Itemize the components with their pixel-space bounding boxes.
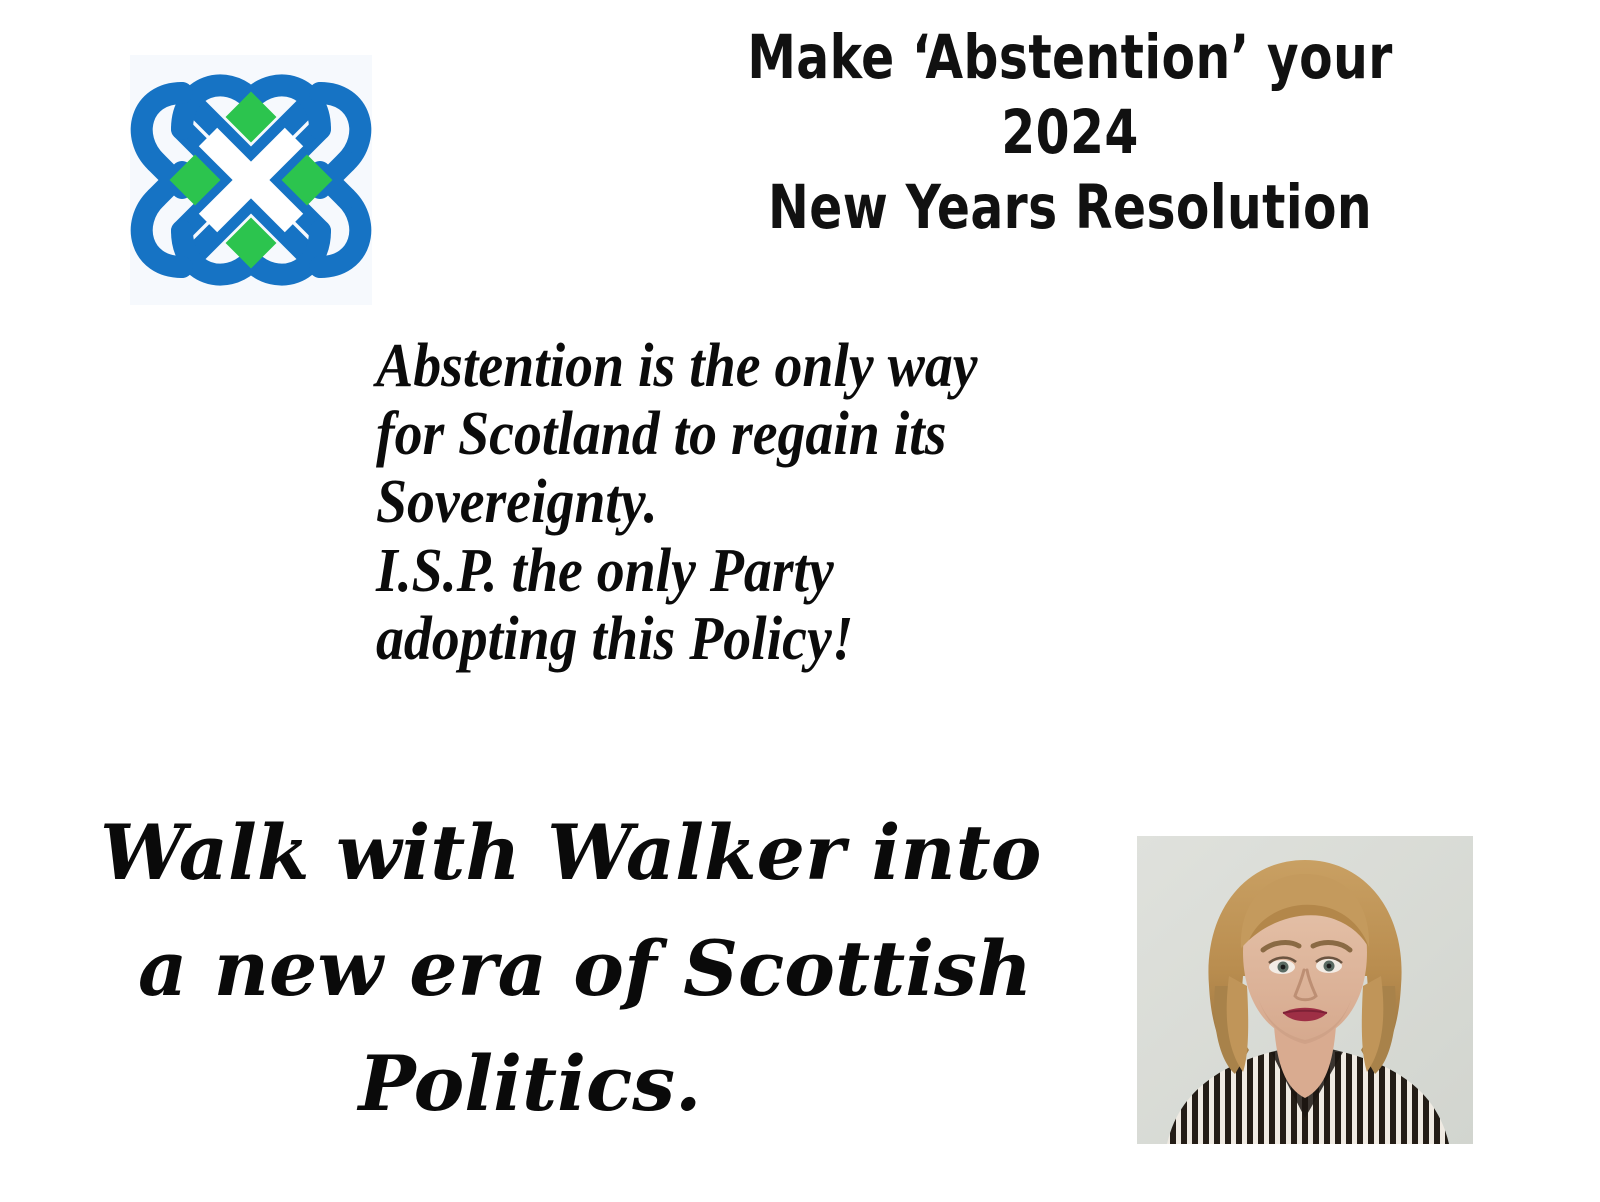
- headline-line-1: Make ‘Abstention’ your: [710, 20, 1430, 95]
- body-line-5: adopting this Policy!: [376, 605, 1132, 673]
- body-line-3: Sovereignty.: [376, 468, 1132, 536]
- headline-line-3: New Years Resolution: [710, 170, 1430, 245]
- slogan-line-2: a new era of Scottish: [60, 911, 1000, 1027]
- body-line-4: I.S.P. the only Party: [376, 537, 1132, 605]
- headline: Make ‘Abstention’ your 2024 New Years Re…: [710, 20, 1430, 245]
- headline-line-2: 2024: [710, 95, 1430, 170]
- slogan: Walk with Walker into a new era of Scott…: [60, 795, 1000, 1142]
- portrait-illustration: [1137, 836, 1473, 1144]
- celtic-knot-icon: [130, 55, 372, 305]
- slogan-line-1: Walk with Walker into: [60, 795, 1000, 911]
- body-line-1: Abstention is the only way: [376, 332, 1132, 400]
- isp-logo: [130, 55, 372, 305]
- body-text: Abstention is the only way for Scotland …: [376, 332, 1132, 673]
- body-line-2: for Scotland to regain its: [376, 400, 1132, 468]
- candidate-portrait-photo: [1137, 836, 1473, 1144]
- slogan-line-3: Politics.: [60, 1026, 1000, 1142]
